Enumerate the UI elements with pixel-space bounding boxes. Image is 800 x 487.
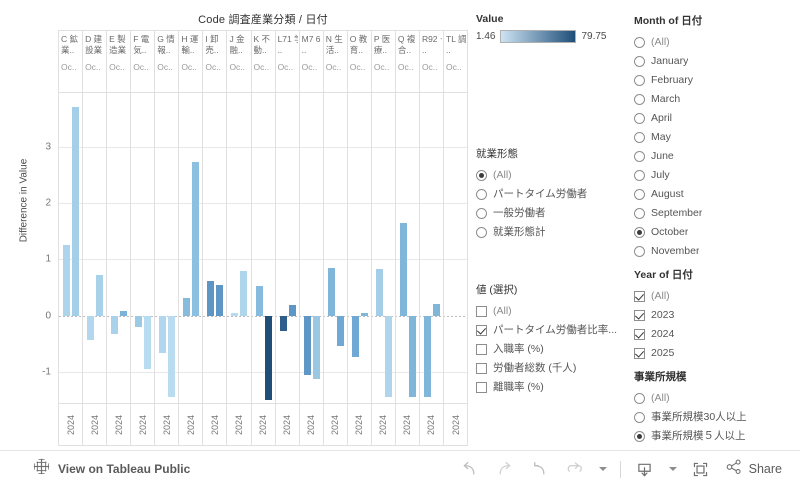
radio-unselected-icon[interactable]: [476, 227, 487, 238]
month-filter-option[interactable]: March: [634, 90, 800, 109]
view-on-tableau-public-button[interactable]: View on Tableau Public: [33, 458, 190, 480]
month-filter-option[interactable]: February: [634, 71, 800, 90]
value-filter-option-label: パートタイム労働者比率...: [493, 321, 617, 340]
bar-cell: [396, 93, 420, 403]
bar[interactable]: [280, 316, 287, 332]
column-header-line1: C 鉱: [61, 34, 81, 45]
bar[interactable]: [337, 316, 344, 346]
value-filter-option[interactable]: 入職率 (%): [476, 340, 632, 359]
x-axis-tick-label: 2024: [451, 414, 461, 434]
column-header[interactable]: J 金融..Oc..: [227, 31, 251, 92]
column-header-line1: O 教: [350, 34, 370, 45]
checkbox-checked-icon[interactable]: [634, 329, 645, 340]
radio-unselected-icon[interactable]: [634, 393, 645, 404]
month-filter-option[interactable]: June: [634, 147, 800, 166]
checkbox-unchecked-icon[interactable]: [476, 344, 487, 355]
column-header-date: Oc..: [181, 62, 201, 73]
radio-unselected-icon[interactable]: [634, 75, 645, 86]
view-public-label: View on Tableau Public: [58, 462, 190, 476]
x-axis-tick-label: 2024: [66, 414, 76, 434]
month-filter-options: (All)JanuaryFebruaryMarchAprilMayJuneJul…: [634, 33, 800, 261]
value-legend-gradient[interactable]: [500, 30, 576, 43]
value-filter-option[interactable]: 労働者総数 (千人): [476, 359, 632, 378]
date-filters-panel: Month of 日付 (All)JanuaryFebruaryMarchApr…: [634, 0, 800, 450]
bar-group: [324, 93, 347, 403]
x-axis-tick: 2024: [300, 404, 324, 445]
column-header-date: Oc..: [398, 62, 418, 73]
bar[interactable]: [207, 281, 214, 316]
share-button[interactable]: Share: [725, 458, 782, 481]
year-filter-option-label: 2023: [651, 306, 674, 325]
column-header-line2: 育..: [350, 45, 370, 56]
year-filter-option[interactable]: 2024: [634, 325, 800, 344]
column-header-date: Oc..: [350, 62, 370, 73]
size-filter-title: 事業所規模: [634, 369, 800, 384]
column-header[interactable]: E 製造業Oc..: [107, 31, 131, 92]
x-axis-tick: 2024: [420, 404, 444, 445]
bar[interactable]: [352, 316, 359, 357]
bar-group: [179, 93, 202, 403]
x-axis-tick: 2024: [252, 404, 276, 445]
column-header-date: Oc..: [205, 62, 225, 73]
year-filter-option-label: 2024: [651, 325, 674, 344]
toolbar-divider: [620, 461, 621, 478]
y-axis-tick-label: 2: [45, 197, 51, 208]
bar[interactable]: [216, 285, 223, 315]
checkbox-checked-icon[interactable]: [634, 291, 645, 302]
column-header-date: Oc..: [278, 62, 298, 73]
column-header[interactable]: Q 複合..Oc..: [396, 31, 420, 92]
column-header-date: Oc..: [374, 62, 394, 73]
bar[interactable]: [289, 305, 296, 315]
column-header-date: Oc..: [302, 62, 322, 73]
column-header-line2: ..: [422, 45, 442, 56]
x-axis-tick-label: 2024: [162, 414, 172, 434]
x-axis-tick-label: 2024: [306, 414, 316, 434]
column-header-line2: ..: [302, 45, 322, 56]
column-header-line1: N 生: [326, 34, 346, 45]
checkbox-checked-icon[interactable]: [634, 348, 645, 359]
radio-unselected-icon[interactable]: [634, 412, 645, 423]
month-filter-option-label: January: [651, 52, 688, 71]
month-filter-option-label: April: [651, 109, 672, 128]
column-header-line1: J 金: [229, 34, 249, 45]
column-header-line2: 売..: [205, 45, 225, 56]
x-axis-tick: 2024: [276, 404, 300, 445]
radio-selected-icon[interactable]: [476, 170, 487, 181]
bar[interactable]: [144, 316, 151, 370]
column-header[interactable]: H 運輸..Oc..: [179, 31, 203, 92]
employment-filter-options: (All)パートタイム労働者一般労働者就業形態計: [476, 166, 632, 242]
bar[interactable]: [400, 223, 407, 316]
year-filter: Year of 日付 (All)202320242025: [634, 267, 800, 363]
refresh-button[interactable]: [564, 458, 586, 480]
radio-unselected-icon[interactable]: [476, 208, 487, 219]
bar-cell: [324, 93, 348, 403]
size-filter-option[interactable]: 事業所規模５人以上: [634, 427, 800, 446]
column-header[interactable]: D 建設業Oc..: [83, 31, 107, 92]
bar-group: [252, 93, 275, 403]
bar[interactable]: [168, 316, 175, 397]
value-filter-option-label: 離職率 (%): [493, 378, 544, 397]
employment-filter-option-label: (All): [493, 166, 512, 185]
column-header-line2: 報..: [157, 45, 177, 56]
redo-button[interactable]: [494, 458, 516, 480]
bar[interactable]: [424, 316, 431, 397]
column-header-date: Oc..: [61, 62, 81, 73]
x-axis-tick: 2024: [444, 404, 467, 445]
x-axis-tick: 2024: [203, 404, 227, 445]
column-header[interactable]: N 生活..Oc..: [324, 31, 348, 92]
bar[interactable]: [313, 316, 320, 380]
bar[interactable]: [304, 316, 311, 376]
size-filter-option-label: (All): [651, 389, 670, 408]
bar-group: [348, 93, 371, 403]
bar-group: [83, 93, 106, 403]
column-header-date: Oc..: [446, 62, 466, 73]
employment-filter-option[interactable]: パートタイム労働者: [476, 185, 632, 204]
radio-unselected-icon[interactable]: [476, 189, 487, 200]
x-axis-tick-label: 2024: [426, 414, 436, 434]
year-filter-option-label: 2025: [651, 344, 674, 363]
employment-filter-option-label: パートタイム労働者: [493, 185, 587, 204]
month-filter-option-label: August: [651, 185, 684, 204]
x-axis-tick: 2024: [372, 404, 396, 445]
column-header-line2: 動..: [254, 45, 274, 56]
value-select-filter: 値 (選択) (All)パートタイム労働者比率...入職率 (%)労働者総数 (…: [476, 282, 632, 397]
column-header-line2: 設業: [85, 45, 105, 56]
month-filter-option-label: February: [651, 71, 693, 90]
size-filter-option-label: 事業所規模30人以上: [651, 408, 747, 427]
x-axis-tick-label: 2024: [90, 414, 100, 434]
value-legend-min: 1.46: [476, 31, 495, 42]
size-filter-option[interactable]: (All): [634, 389, 800, 408]
month-filter-option[interactable]: October: [634, 223, 800, 242]
bar-group: [155, 93, 178, 403]
column-header[interactable]: P 医療..Oc..: [372, 31, 396, 92]
column-header-line2: ..: [446, 45, 466, 56]
column-header-line1: D 建: [85, 34, 105, 45]
share-icon: [725, 458, 743, 481]
bar-group: [444, 93, 467, 403]
bar-cells: [59, 93, 467, 403]
month-filter-option-label: (All): [651, 33, 670, 52]
y-axis-tick-label: 3: [45, 141, 51, 152]
bar-group: [227, 93, 250, 403]
year-filter-option[interactable]: 2023: [634, 306, 800, 325]
bar[interactable]: [385, 316, 392, 397]
bar-group: [203, 93, 226, 403]
value-filter-option[interactable]: (All): [476, 302, 632, 321]
value-filter-options: (All)パートタイム労働者比率...入職率 (%)労働者総数 (千人)離職率 …: [476, 302, 632, 397]
month-filter-title: Month of 日付: [634, 13, 800, 28]
column-header-line1: H 運: [181, 34, 201, 45]
column-header-date: Oc..: [422, 62, 442, 73]
checkbox-unchecked-icon[interactable]: [476, 382, 487, 393]
x-axis-tick: 2024: [324, 404, 348, 445]
x-axis-tick-label: 2024: [114, 414, 124, 434]
download-button[interactable]: [634, 458, 656, 480]
value-legend-row: 1.46 79.75: [476, 30, 632, 43]
month-filter-option[interactable]: September: [634, 204, 800, 223]
revert-button[interactable]: [529, 458, 551, 480]
value-filter-option[interactable]: パートタイム労働者比率...: [476, 321, 632, 340]
month-filter-option[interactable]: July: [634, 166, 800, 185]
refresh-dropdown-caret[interactable]: [599, 467, 607, 471]
column-header-line2: 業..: [61, 45, 81, 56]
x-axis-tick-label: 2024: [330, 414, 340, 434]
column-header-line1: K 不: [254, 34, 274, 45]
month-filter-option[interactable]: April: [634, 109, 800, 128]
column-header-line1: Q 複: [398, 34, 418, 45]
year-filter-option[interactable]: (All): [634, 287, 800, 306]
bar-group: [300, 93, 323, 403]
employment-filter-option[interactable]: (All): [476, 166, 632, 185]
bar-cell: [203, 93, 227, 403]
size-filter-options: (All)事業所規模30人以上事業所規模５人以上: [634, 389, 800, 446]
column-header[interactable]: C 鉱業..Oc..: [59, 31, 83, 92]
month-filter-option[interactable]: November: [634, 242, 800, 261]
column-header-line2: ..: [278, 45, 298, 56]
year-filter-option[interactable]: 2025: [634, 344, 800, 363]
column-header-date: Oc..: [85, 62, 105, 73]
column-header[interactable]: G 情報..Oc..: [155, 31, 179, 92]
bar-cell: [179, 93, 203, 403]
month-filter: Month of 日付 (All)JanuaryFebruaryMarchApr…: [634, 13, 800, 261]
legend-and-filters-panel: Value 1.46 79.75 就業形態 (All)パートタイム労働者一般労働…: [476, 0, 632, 450]
x-axis-tick: 2024: [348, 404, 372, 445]
x-axis-tick: 2024: [155, 404, 179, 445]
x-axis-tick-label: 2024: [258, 414, 268, 434]
bar-cell: [444, 93, 467, 403]
checkbox-checked-icon[interactable]: [476, 325, 487, 336]
column-header[interactable]: F 電気..Oc..: [131, 31, 155, 92]
checkbox-unchecked-icon[interactable]: [476, 306, 487, 317]
month-filter-option-label: July: [651, 166, 670, 185]
month-filter-option-label: June: [651, 147, 674, 166]
bar-group: [372, 93, 395, 403]
undo-button[interactable]: [459, 458, 481, 480]
bar[interactable]: [409, 316, 416, 397]
bar[interactable]: [256, 286, 263, 316]
radio-selected-icon[interactable]: [634, 431, 645, 442]
tableau-dashboard: Code 調査産業分類 / 日付 C 鉱業..Oc..D 建設業Oc..E 製造…: [0, 0, 800, 487]
x-axis-tick-label: 2024: [354, 414, 364, 434]
column-header-band: C 鉱業..Oc..D 建設業Oc..E 製造業Oc..F 電気..Oc..G …: [58, 30, 468, 92]
x-axis-tick: 2024: [59, 404, 83, 445]
x-axis-tick-label: 2024: [138, 414, 148, 434]
year-filter-options: (All)202320242025: [634, 287, 800, 363]
x-axis-tick: 2024: [227, 404, 251, 445]
bar[interactable]: [376, 269, 383, 316]
month-filter-option-label: October: [651, 223, 688, 242]
month-filter-option[interactable]: August: [634, 185, 800, 204]
x-axis-tick-label: 2024: [210, 414, 220, 434]
radio-unselected-icon[interactable]: [634, 208, 645, 219]
column-header-date: Oc..: [229, 62, 249, 73]
radio-unselected-icon[interactable]: [634, 113, 645, 124]
bar[interactable]: [111, 316, 118, 335]
x-axis-tick-label: 2024: [378, 414, 388, 434]
employment-filter-option[interactable]: 就業形態計: [476, 223, 632, 242]
size-filter-option-label: 事業所規模５人以上: [651, 427, 746, 446]
bar[interactable]: [240, 271, 247, 316]
chart-panel: Code 調査産業分類 / 日付 C 鉱業..Oc..D 建設業Oc..E 製造…: [0, 0, 470, 450]
column-header-line2: 造業: [109, 45, 129, 56]
bar[interactable]: [135, 316, 142, 327]
x-axis-tick: 2024: [107, 404, 131, 445]
column-header[interactable]: L71 学..Oc..: [276, 31, 300, 92]
employment-filter-option-label: 就業形態計: [493, 223, 546, 242]
bar-group: [131, 93, 154, 403]
bar-group: [276, 93, 299, 403]
radio-unselected-icon[interactable]: [634, 37, 645, 48]
month-filter-option-label: March: [651, 90, 680, 109]
column-header-line1: I 卸: [205, 34, 225, 45]
bar-cell: [155, 93, 179, 403]
share-label: Share: [749, 462, 782, 476]
bar[interactable]: [120, 311, 127, 316]
radio-unselected-icon[interactable]: [634, 170, 645, 181]
column-header-line2: 輸..: [181, 45, 201, 56]
column-header-line2: 合..: [398, 45, 418, 56]
column-header[interactable]: M7 6 ..Oc..: [300, 31, 324, 92]
column-header[interactable]: O 教育..Oc..: [348, 31, 372, 92]
column-header-line1: TL 調: [446, 34, 466, 45]
column-header[interactable]: I 卸売..Oc..: [203, 31, 227, 92]
radio-unselected-icon[interactable]: [634, 151, 645, 162]
radio-unselected-icon[interactable]: [634, 56, 645, 67]
bar-cell: [276, 93, 300, 403]
tableau-logo-icon: [33, 458, 50, 480]
bar-group: [107, 93, 130, 403]
column-header-line2: 融..: [229, 45, 249, 56]
column-header[interactable]: TL 調..Oc..: [444, 31, 467, 92]
bar-cell: [107, 93, 131, 403]
radio-selected-icon[interactable]: [634, 227, 645, 238]
column-header-line1: G 情: [157, 34, 177, 45]
x-axis-tick: 2024: [396, 404, 420, 445]
employment-filter-option-label: 一般労働者: [493, 204, 546, 223]
radio-unselected-icon[interactable]: [634, 94, 645, 105]
column-header-line2: 活..: [326, 45, 346, 56]
fullscreen-button[interactable]: [690, 458, 712, 480]
value-filter-option-label: 入職率 (%): [493, 340, 544, 359]
column-header[interactable]: K 不動..Oc..: [252, 31, 276, 92]
column-header-line1: R92 そ: [422, 34, 442, 45]
radio-unselected-icon[interactable]: [634, 246, 645, 257]
x-axis-tick-label: 2024: [402, 414, 412, 434]
x-axis-tick: 2024: [131, 404, 155, 445]
x-axis-tick: 2024: [83, 404, 107, 445]
checkbox-checked-icon[interactable]: [634, 310, 645, 321]
year-filter-title: Year of 日付: [634, 267, 800, 282]
value-filter-title: 値 (選択): [476, 282, 632, 297]
column-header-line2: 気..: [133, 45, 153, 56]
bar-cell: [131, 93, 155, 403]
value-color-legend: Value 1.46 79.75: [476, 13, 632, 43]
establishment-size-filter: 事業所規模 (All)事業所規模30人以上事業所規模５人以上: [634, 369, 800, 446]
value-legend-max: 79.75: [581, 31, 606, 42]
bar[interactable]: [361, 313, 368, 316]
month-filter-option[interactable]: (All): [634, 33, 800, 52]
x-axis-tick-label: 2024: [186, 414, 196, 434]
bar[interactable]: [328, 268, 335, 315]
column-header-date: Oc..: [157, 62, 177, 73]
column-header[interactable]: R92 そ..Oc..: [420, 31, 444, 92]
x-axis-labels: 2024202420242024202420242024202420242024…: [58, 404, 468, 446]
bar[interactable]: [87, 316, 94, 341]
bar[interactable]: [63, 245, 70, 315]
month-filter-option-label: September: [651, 204, 702, 223]
employment-type-filter: 就業形態 (All)パートタイム労働者一般労働者就業形態計: [476, 146, 632, 242]
toolbar-actions: Share: [459, 458, 782, 481]
column-header-date: Oc..: [326, 62, 346, 73]
bar-cell: [300, 93, 324, 403]
column-header-line1: M7 6: [302, 34, 322, 45]
month-filter-option[interactable]: January: [634, 52, 800, 71]
y-axis-tick-label: -1: [42, 367, 51, 378]
plot-area: [58, 92, 468, 404]
column-header-date: Oc..: [109, 62, 129, 73]
column-header-date: Oc..: [254, 62, 274, 73]
radio-unselected-icon[interactable]: [634, 132, 645, 143]
month-filter-option-label: May: [651, 128, 671, 147]
bar[interactable]: [159, 316, 166, 354]
value-legend-title: Value: [476, 13, 632, 25]
bar[interactable]: [231, 313, 238, 315]
employment-filter-option[interactable]: 一般労働者: [476, 204, 632, 223]
bar-group: [396, 93, 419, 403]
bar[interactable]: [433, 304, 440, 315]
chart-title: Code 調査産業分類 / 日付: [58, 11, 468, 27]
bar-group: [420, 93, 443, 403]
month-filter-option[interactable]: May: [634, 128, 800, 147]
value-filter-option-label: 労働者総数 (千人): [493, 359, 576, 378]
column-header-line2: 療..: [374, 45, 394, 56]
x-axis-tick-label: 2024: [282, 414, 292, 434]
value-filter-option-label: (All): [493, 302, 512, 321]
bar-cell: [420, 93, 444, 403]
bar-cell: [372, 93, 396, 403]
bar-cell: [83, 93, 107, 403]
x-axis-tick-label: 2024: [234, 414, 244, 434]
employment-filter-title: 就業形態: [476, 146, 632, 161]
bar[interactable]: [96, 275, 103, 316]
checkbox-unchecked-icon[interactable]: [476, 363, 487, 374]
value-filter-option[interactable]: 離職率 (%): [476, 378, 632, 397]
bar-cell: [59, 93, 83, 403]
year-filter-option-label: (All): [651, 287, 670, 306]
month-filter-option-label: November: [651, 242, 699, 261]
radio-unselected-icon[interactable]: [634, 189, 645, 200]
bar-cell: [252, 93, 276, 403]
x-axis-tick: 2024: [179, 404, 203, 445]
size-filter-option[interactable]: 事業所規模30人以上: [634, 408, 800, 427]
download-dropdown-caret[interactable]: [669, 467, 677, 471]
bar[interactable]: [192, 162, 199, 316]
y-axis-tick-label: 0: [45, 310, 51, 321]
bar[interactable]: [72, 107, 79, 316]
y-axis-tick-label: 1: [45, 254, 51, 265]
column-header-line1: F 電: [133, 34, 153, 45]
column-header-date: Oc..: [133, 62, 153, 73]
column-header-line1: L71 学: [278, 34, 298, 45]
bottom-toolbar: View on Tableau Public: [0, 450, 800, 487]
column-header-line1: P 医: [374, 34, 394, 45]
bar[interactable]: [265, 316, 272, 401]
bar[interactable]: [183, 298, 190, 315]
